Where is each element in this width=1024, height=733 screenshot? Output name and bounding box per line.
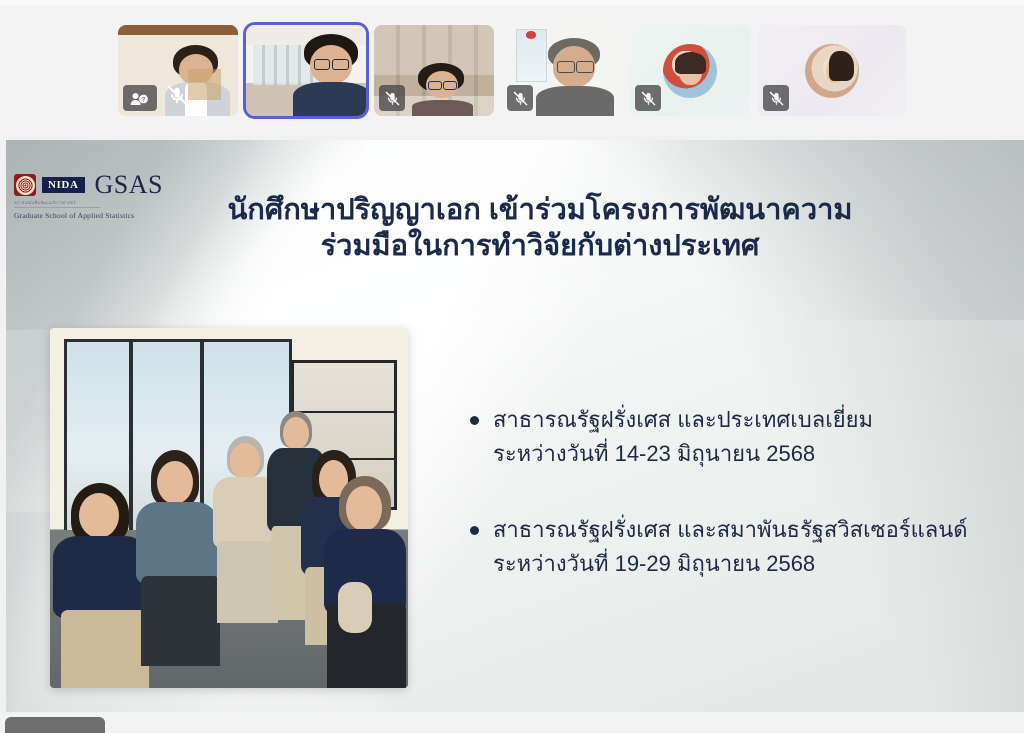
host-icon: ? xyxy=(129,91,151,106)
photo-person xyxy=(136,450,222,666)
logo-gsas-text: GSAS xyxy=(95,172,163,198)
person-figure xyxy=(543,38,608,116)
bullet-1-line-2: ระหว่างวันที่ 14-23 มิถุนายน 2568 xyxy=(493,437,873,471)
logo-subtitle: Graduate School of Applied Statistics xyxy=(14,211,164,220)
participant-tile-5[interactable] xyxy=(630,25,750,116)
mic-muted-badge xyxy=(635,85,661,111)
logo-divider xyxy=(14,207,100,208)
mic-muted-icon xyxy=(166,84,188,106)
mic-muted-badge xyxy=(507,85,533,111)
participant-tile-3[interactable] xyxy=(374,25,494,116)
mic-muted-badge xyxy=(763,85,789,111)
slide-title-line-2: ร่วมมือในการทำวิจัยกับต่างประเทศ xyxy=(180,228,900,264)
photo-person xyxy=(326,476,408,688)
person-figure xyxy=(415,63,470,116)
bullet-2-line-1: สาธารณรัฐฝรั่งเศส และสมาพันธรัฐสวิสเซอร์… xyxy=(493,513,968,547)
mic-muted-badge xyxy=(164,82,190,108)
slide-bullet-list: สาธารณรัฐฝรั่งเศส และประเทศเบลเยี่ยม ระห… xyxy=(470,403,1010,623)
bullet-dot-icon xyxy=(470,526,479,535)
participant-video-strip[interactable]: ? xyxy=(0,5,1024,136)
video-conference-screen-share: ? xyxy=(0,0,1024,730)
slide-title: นักศึกษาปริญญาเอก เข้าร่วมโครงการพัฒนาคว… xyxy=(180,192,900,265)
mic-muted-icon xyxy=(384,90,401,107)
participant-tile-4[interactable] xyxy=(502,25,622,116)
video-feed-2 xyxy=(246,25,366,116)
bullet-item: สาธารณรัฐฝรั่งเศส และสมาพันธรัฐสวิสเซอร์… xyxy=(470,513,1010,581)
avatar xyxy=(663,44,717,98)
nida-gsas-logo: NIDA GSAS สถาบันบัณฑิตพัฒนบริหารศาสตร์ G… xyxy=(14,172,164,220)
logo-thai-subtitle: สถาบันบัณฑิตพัฒนบริหารศาสตร์ xyxy=(14,199,164,206)
slide-title-line-1: นักศึกษาปริญญาเอก เข้าร่วมโครงการพัฒนาคว… xyxy=(180,192,900,228)
svg-text:?: ? xyxy=(142,97,146,103)
slide-group-photo xyxy=(50,328,408,688)
bottom-toolbar-handle[interactable] xyxy=(5,717,105,733)
participant-tile-6[interactable] xyxy=(758,25,906,116)
bullet-item: สาธารณรัฐฝรั่งเศส และประเทศเบลเยี่ยม ระห… xyxy=(470,403,1010,471)
mic-muted-badge xyxy=(379,85,405,111)
participant-tile-2-active-speaker[interactable] xyxy=(246,25,366,116)
mic-muted-icon xyxy=(640,90,657,107)
bullet-dot-icon xyxy=(470,416,479,425)
bottom-bar xyxy=(0,712,1024,730)
bullet-2-line-2: ระหว่างวันที่ 19-29 มิถุนายน 2568 xyxy=(493,547,968,581)
mic-muted-icon xyxy=(512,90,529,107)
participant-tile-1[interactable]: ? xyxy=(118,25,238,116)
avatar xyxy=(805,44,859,98)
person-figure xyxy=(299,34,366,116)
mic-muted-icon xyxy=(768,90,785,107)
bullet-1-line-1: สาธารณรัฐฝรั่งเศส และประเทศเบลเยี่ยม xyxy=(493,403,873,437)
nida-seal-icon xyxy=(14,174,36,196)
host-badge: ? xyxy=(123,85,157,111)
logo-nida-text: NIDA xyxy=(42,177,85,193)
